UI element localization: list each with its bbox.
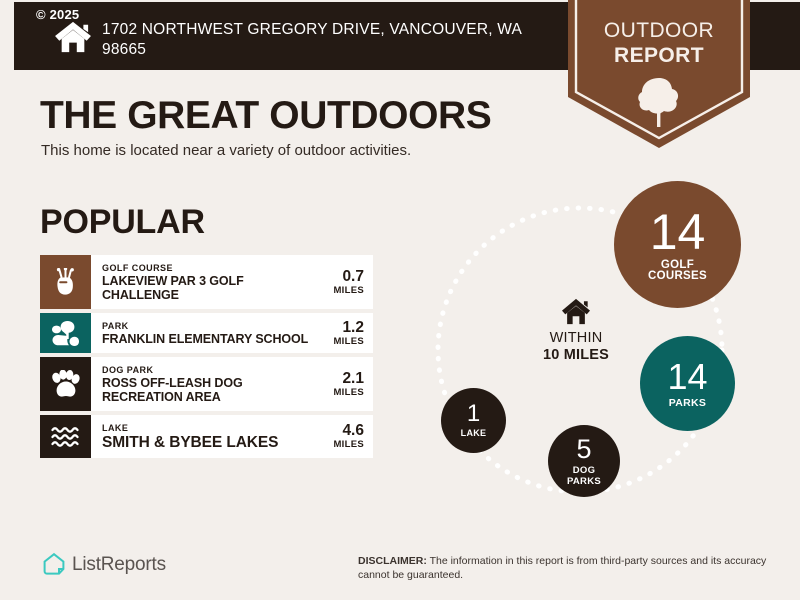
list-item[interactable]: LAKE SMITH & BYBEE LAKES 4.6 MILES [40,415,373,458]
home-icon [54,20,92,54]
tree-icon [634,76,684,128]
bubble-lake[interactable]: 1 LAKE [441,388,506,453]
badge-title-line1: OUTDOOR [568,18,750,43]
bubble-count: 5 [576,436,591,463]
badge-title-line2: REPORT [568,43,750,68]
list-item-distance: 1.2 MILES [325,313,373,353]
list-item-category: PARK [102,320,321,332]
home-icon [561,298,591,326]
list-item[interactable]: PARK FRANKLIN ELEMENTARY SCHOOL 1.2 MILE… [40,313,373,353]
list-item-category: GOLF COURSE [102,262,321,274]
bubble-dog-parks[interactable]: 5 DOG PARKS [548,425,620,497]
park-trees-icon [51,320,80,347]
bubble-label-line1: LAKE [461,428,487,439]
list-item-distance: 4.6 MILES [325,415,373,458]
list-item-name: FRANKLIN ELEMENTARY SCHOOL [102,332,321,346]
amenities-bubble-chart: 14 GOLF COURSES 14 PARKS 5 DOG PARKS 1 L… [420,175,800,520]
distance-unit: MILES [333,285,364,297]
list-item[interactable]: DOG PARK ROSS OFF-LEASH DOG RECREATION A… [40,357,373,411]
distance-value: 1.2 [342,319,364,336]
badge-title: OUTDOOR REPORT [568,18,750,68]
list-item[interactable]: GOLF COURSE LAKEVIEW PAR 3 GOLF CHALLENG… [40,255,373,309]
list-item-icon-tile [40,255,91,309]
page-subtitle: This home is located near a variety of o… [41,142,411,159]
bubble-parks[interactable]: 14 PARKS [640,336,735,431]
radius-label: 10 MILES [506,347,646,364]
distance-value: 4.6 [342,422,364,439]
outdoor-report-badge: OUTDOOR REPORT [568,0,750,148]
outdoor-report-page: © 2025 1702 NORTHWEST GREGORY DRIVE, VAN… [0,0,800,600]
water-waves-icon [51,425,81,449]
list-item-category: DOG PARK [102,364,321,376]
bubble-label-line1: DOG [573,465,596,476]
listreports-house-icon [42,552,66,577]
bubble-golf-courses[interactable]: 14 GOLF COURSES [614,181,741,308]
bubble-label-line1: PARKS [669,398,706,409]
distance-unit: MILES [333,439,364,451]
list-item-icon-tile [40,357,91,411]
within-radius-caption: WITHIN 10 MILES [506,330,646,364]
bubble-label-line2: PARKS [567,476,601,487]
paw-print-icon [51,370,80,398]
list-item-text: GOLF COURSE LAKEVIEW PAR 3 GOLF CHALLENG… [91,255,325,309]
listreports-logo[interactable]: ListReports [42,552,166,577]
list-item-name: LAKEVIEW PAR 3 GOLF CHALLENGE [102,274,321,302]
list-item-category: LAKE [102,422,321,434]
list-item-icon-tile [40,415,91,458]
disclaimer: DISCLAIMER: The information in this repo… [358,554,768,582]
golf-bag-icon [53,268,79,296]
popular-list: GOLF COURSE LAKEVIEW PAR 3 GOLF CHALLENG… [40,255,373,462]
list-item-text: DOG PARK ROSS OFF-LEASH DOG RECREATION A… [91,357,325,411]
bubble-label-line2: COURSES [648,271,707,282]
distance-unit: MILES [333,336,364,348]
property-address: 1702 NORTHWEST GREGORY DRIVE, VANCOUVER,… [102,20,542,60]
disclaimer-label: DISCLAIMER: [358,555,427,567]
list-item-text: PARK FRANKLIN ELEMENTARY SCHOOL [91,313,325,353]
page-title: THE GREAT OUTDOORS [40,94,491,138]
list-item-distance: 0.7 MILES [325,255,373,309]
list-item-name: ROSS OFF-LEASH DOG RECREATION AREA [102,376,321,404]
bubble-count: 14 [667,359,707,395]
list-item-icon-tile [40,313,91,353]
list-item-text: LAKE SMITH & BYBEE LAKES [91,415,325,458]
distance-value: 2.1 [342,370,364,387]
bubble-count: 1 [467,402,480,426]
list-item-distance: 2.1 MILES [325,357,373,411]
logo-text: ListReports [72,554,166,576]
distance-value: 0.7 [342,268,364,285]
distance-unit: MILES [333,387,364,399]
section-title-popular: POPULAR [40,203,205,242]
list-item-name: SMITH & BYBEE LAKES [102,434,321,451]
bubble-count: 14 [650,207,706,257]
within-label: WITHIN [506,330,646,347]
